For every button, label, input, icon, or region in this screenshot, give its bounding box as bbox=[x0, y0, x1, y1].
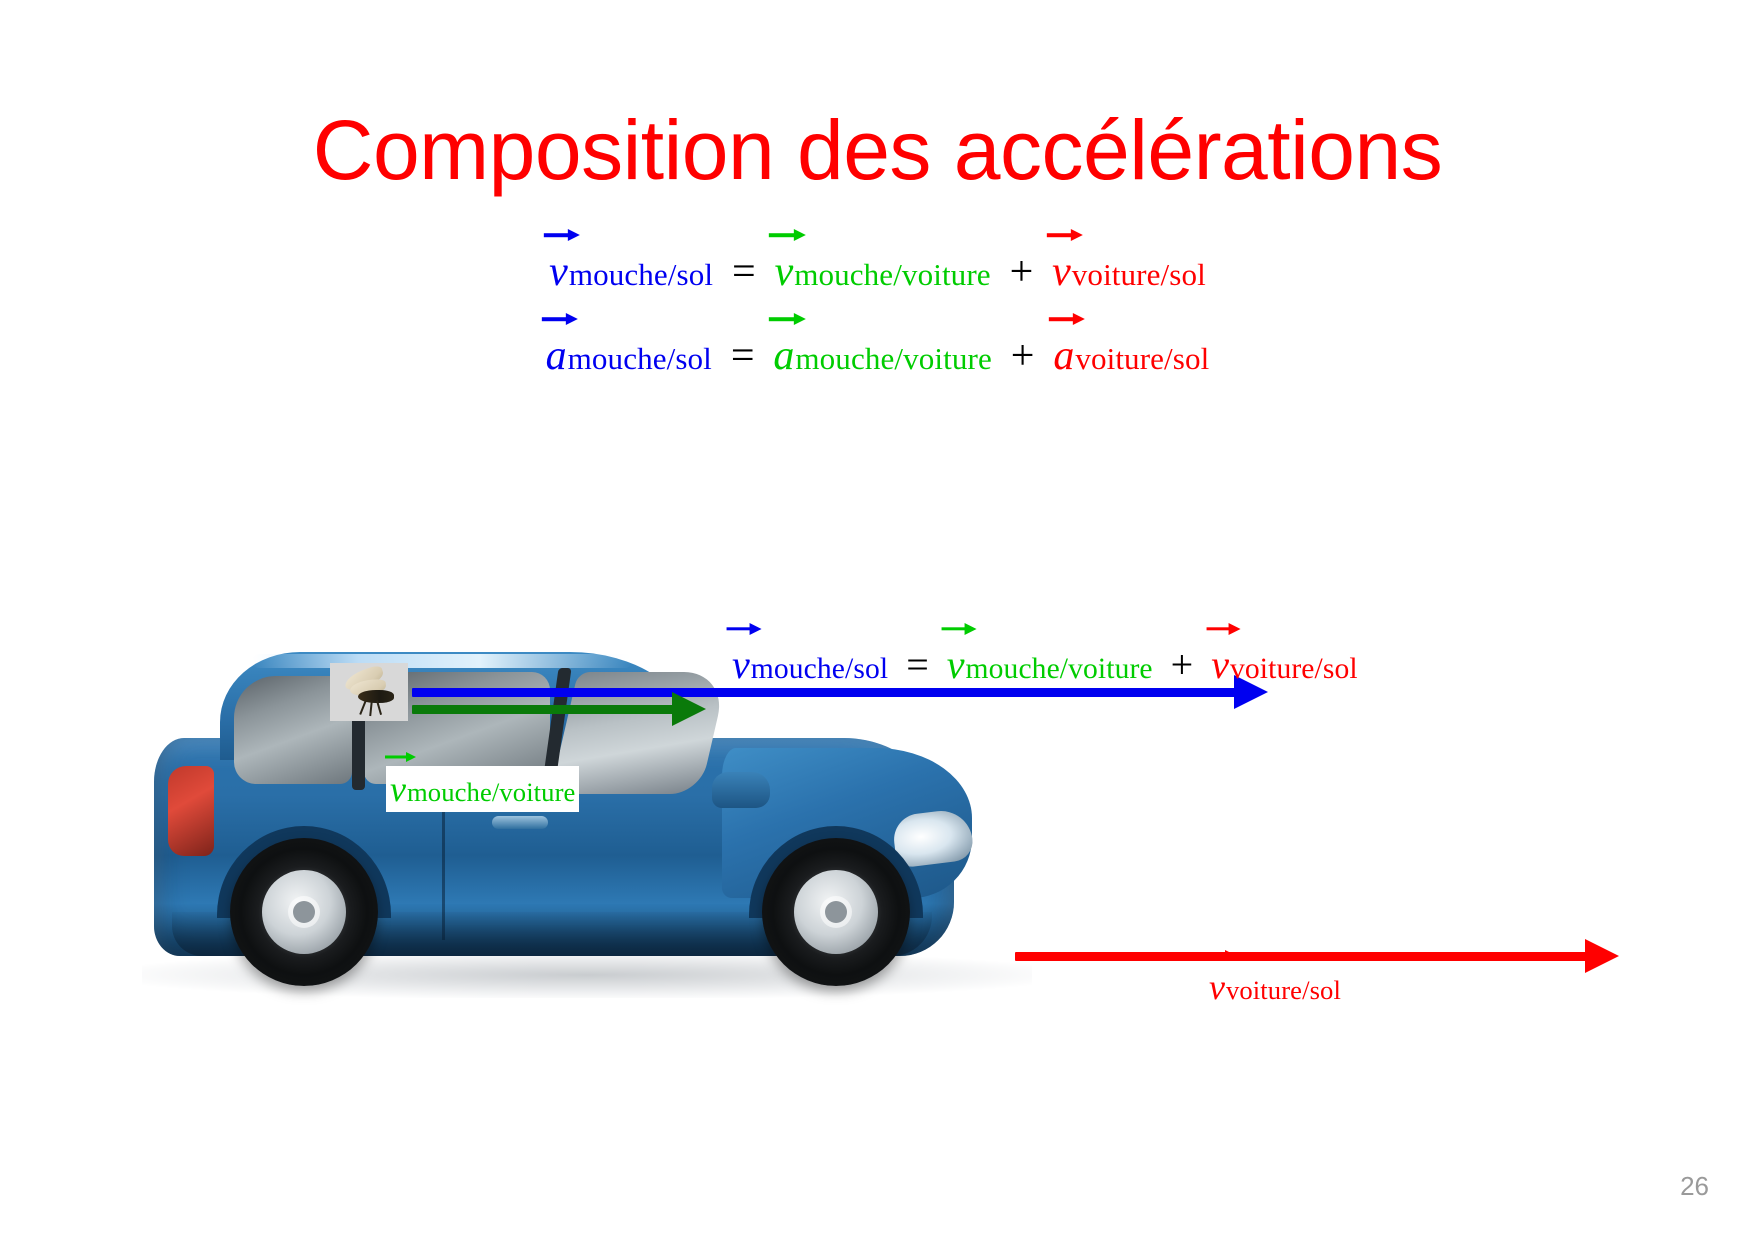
vector-a-mouche-sol: a bbox=[546, 332, 568, 380]
equals-operator: = bbox=[724, 249, 764, 295]
diagram-equation: vmouche/sol = vmouche/voiture + vvoiture… bbox=[728, 639, 1362, 690]
vector-arrow-icon bbox=[769, 229, 805, 242]
vector-arrow-icon bbox=[544, 229, 580, 242]
page-number: 26 bbox=[1680, 1171, 1709, 1202]
vector-v-mouche-voiture: v bbox=[947, 641, 966, 688]
vector-v-voiture-sol: v bbox=[1211, 641, 1230, 688]
plus-operator: + bbox=[1163, 642, 1202, 687]
equals-operator: = bbox=[722, 333, 762, 379]
vector-arrow-icon bbox=[1049, 313, 1085, 326]
wheel-hub bbox=[794, 870, 878, 954]
slide: Composition des accélérations vmouche/so… bbox=[0, 0, 1755, 1240]
subscript-mouche-voiture: mouche/voiture bbox=[407, 777, 576, 807]
fly-leg bbox=[359, 700, 366, 715]
equals-operator: = bbox=[898, 642, 937, 687]
equation-velocity-composition: vmouche/sol = vmouche/voiture + vvoiture… bbox=[0, 248, 1755, 296]
door-handle bbox=[492, 816, 548, 829]
front-wheel bbox=[762, 838, 910, 986]
vector-arrow-icon bbox=[541, 313, 577, 326]
plus-operator: + bbox=[1002, 333, 1042, 379]
vector-arrow-icon bbox=[1206, 623, 1240, 635]
page-title: Composition des accélérations bbox=[0, 106, 1755, 194]
vector-arrow-icon bbox=[769, 313, 805, 326]
vector-v-mouche-sol: v bbox=[549, 248, 569, 296]
subscript-voiture-sol: voiture/sol bbox=[1075, 341, 1209, 376]
subscript-voiture-sol: voiture/sol bbox=[1230, 653, 1358, 685]
rear-wheel bbox=[230, 838, 378, 986]
vector-v-voiture-sol: v bbox=[1052, 248, 1072, 296]
vector-v-mouche-voiture: v bbox=[775, 248, 795, 296]
housefly-icon bbox=[338, 670, 400, 716]
label-v-mouche-voiture: vmouche/voiture bbox=[386, 766, 579, 812]
side-mirror bbox=[712, 772, 770, 808]
subscript-mouche-sol: mouche/sol bbox=[569, 257, 713, 292]
label-v-voiture-sol: vvoiture/sol bbox=[1205, 964, 1345, 1010]
subscript-mouche-voiture: mouche/voiture bbox=[794, 257, 990, 292]
subscript-voiture-sol: voiture/sol bbox=[1226, 975, 1341, 1005]
taillight bbox=[168, 766, 214, 856]
fly-leg bbox=[369, 701, 373, 716]
vector-v-voiture-sol: v bbox=[1209, 966, 1226, 1008]
plus-operator: + bbox=[1001, 249, 1041, 295]
subscript-mouche-sol: mouche/sol bbox=[568, 341, 712, 376]
subscript-voiture-sol: voiture/sol bbox=[1072, 257, 1206, 292]
subscript-mouche-voiture: mouche/voiture bbox=[966, 653, 1153, 685]
subscript-mouche-sol: mouche/sol bbox=[751, 653, 888, 685]
vector-v-mouche-sol: v bbox=[732, 641, 751, 688]
vector-arrow-icon bbox=[1047, 229, 1083, 242]
car-roof-highlight bbox=[252, 654, 632, 668]
equation-acceleration-composition: amouche/sol = amouche/voiture + avoiture… bbox=[0, 332, 1755, 380]
subscript-mouche-voiture: mouche/voiture bbox=[795, 341, 991, 376]
vector-a-voiture-sol: a bbox=[1053, 332, 1075, 380]
wheel-hub bbox=[262, 870, 346, 954]
vector-a-mouche-voiture: a bbox=[773, 332, 795, 380]
vector-v-mouche-voiture: v bbox=[390, 768, 407, 810]
